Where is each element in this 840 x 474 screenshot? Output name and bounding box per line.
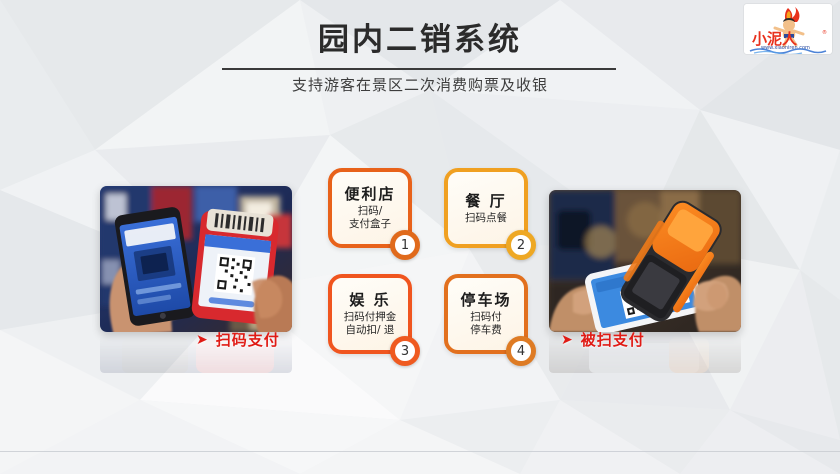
title-divider: [222, 68, 616, 70]
card-title: 便利店: [344, 185, 395, 203]
card-title: 娱 乐: [349, 291, 390, 309]
arrow-right-icon: ➤: [561, 333, 574, 347]
caption-scan-to-pay: ➤ 扫码支付: [196, 329, 280, 350]
card-badge-2: 2: [506, 230, 536, 260]
slide-canvas: 园内二销系统 支持游客在景区二次消费购票及收银 小泥人 ® www.xiaon: [0, 0, 840, 474]
card-badge-1: 1: [390, 230, 420, 260]
card-badge-3: 3: [390, 336, 420, 366]
arrow-right-icon: ➤: [196, 333, 209, 347]
caption-left-text: 扫码支付: [216, 329, 280, 350]
photo-scanned-pay: [549, 190, 741, 332]
card-title: 餐 厅: [465, 192, 506, 210]
caption-right-text: 被扫支付: [581, 329, 645, 350]
card-subtitle: 扫码点餐: [465, 212, 507, 225]
card-title: 停车场: [460, 291, 511, 309]
caption-scanned-pay: ➤ 被扫支付: [561, 329, 645, 350]
svg-text:®: ®: [822, 29, 827, 36]
card-subtitle: 扫码/ 支付盒子: [349, 205, 391, 231]
page-title: 园内二销系统: [0, 22, 840, 58]
photo-scan-to-pay: [100, 186, 292, 332]
card-subtitle: 扫码付 停车费: [470, 311, 502, 337]
bottom-divider: [0, 451, 840, 452]
card-badge-4: 4: [506, 336, 536, 366]
card-subtitle: 扫码付押金 自动扣/ 退: [344, 311, 397, 337]
page-subtitle: 支持游客在景区二次消费购票及收银: [0, 74, 840, 96]
brand-logo[interactable]: 小泥人 ® www.xiaoniren.com: [744, 4, 832, 54]
